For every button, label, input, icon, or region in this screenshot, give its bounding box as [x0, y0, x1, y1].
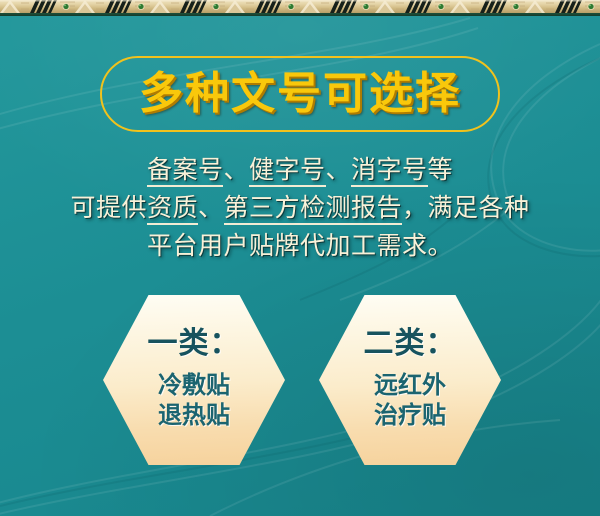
promo-poster: 多种文号可选择 备案号、健字号、消字号等 可提供资质、第三方检测报告，满足各种 … [0, 0, 600, 516]
description-segment: 、 [223, 157, 249, 184]
hexagon-one-item-1: 冷敷贴 [158, 371, 230, 401]
description-segment: 资质 [147, 195, 198, 225]
hexagon-category-two[interactable]: 二类： 远红外 治疗贴 [319, 295, 501, 465]
hexagon-two-title: 二类： [364, 329, 457, 359]
border-dark-underline [0, 13, 600, 16]
description-line-1: 备案号、健字号、消字号等 [0, 152, 600, 190]
hexagon-two-items: 远红外 治疗贴 [374, 371, 446, 431]
description-paragraph: 备案号、健字号、消字号等 可提供资质、第三方检测报告，满足各种 平台用户贴牌代加… [0, 152, 600, 266]
description-segment: 平台用户贴牌代加工需求。 [147, 233, 453, 260]
description-segment: 、 [326, 157, 352, 184]
hexagon-two-item-1: 远红外 [374, 371, 446, 401]
description-segment: 健字号 [249, 157, 326, 187]
description-line-2: 可提供资质、第三方检测报告，满足各种 [0, 190, 600, 228]
description-segment: 、 [198, 195, 224, 222]
top-ornamental-border [0, 0, 600, 16]
description-segment: 可提供 [70, 195, 147, 222]
hexagon-one-item-2: 退热贴 [158, 401, 230, 431]
description-segment: 消字号 [351, 157, 428, 187]
description-segment: 备案号 [147, 157, 224, 187]
page-title: 多种文号可选择 [102, 72, 498, 116]
hexagon-two-item-2: 治疗贴 [374, 401, 446, 431]
hexagon-category-one[interactable]: 一类： 冷敷贴 退热贴 [103, 295, 285, 465]
title-pill-frame: 多种文号可选择 [100, 56, 500, 132]
border-pattern-motifs [0, 0, 600, 13]
description-segment: ，满足各种 [402, 195, 530, 222]
description-segment: 第三方检测报告 [224, 195, 403, 225]
hexagon-one-title: 一类： [148, 329, 241, 359]
description-line-3: 平台用户贴牌代加工需求。 [0, 228, 600, 266]
hexagon-one-items: 冷敷贴 退热贴 [158, 371, 230, 431]
description-segment: 等 [428, 157, 454, 184]
